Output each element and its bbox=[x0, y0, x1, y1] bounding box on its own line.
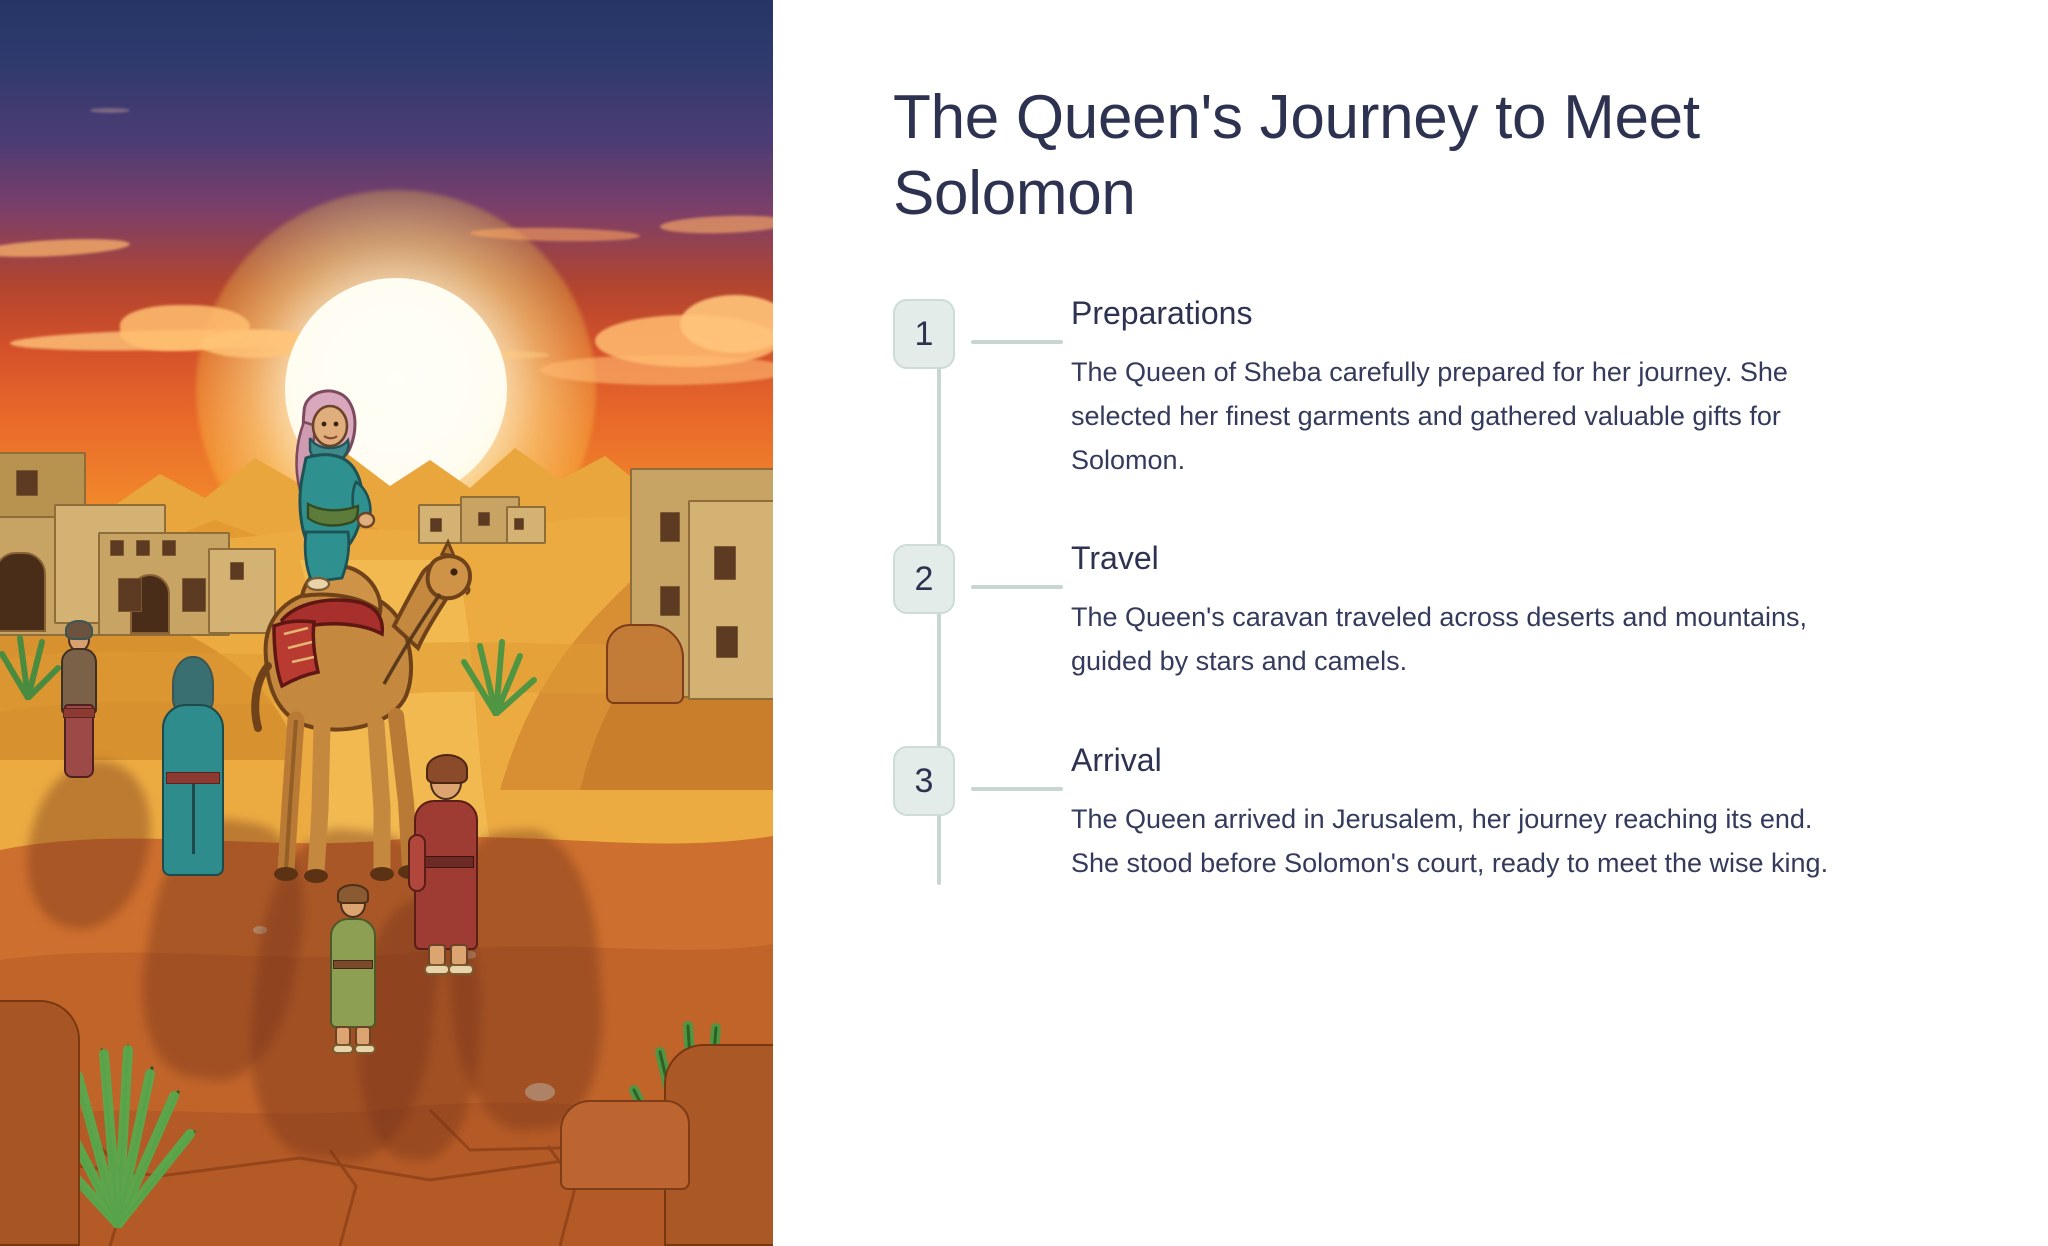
figure-hair bbox=[426, 754, 468, 784]
timeline-step-body: Preparations The Queen of Sheba carefull… bbox=[985, 293, 1865, 482]
building-window bbox=[660, 512, 680, 542]
timeline-step-description: The Queen of Sheba carefully prepared fo… bbox=[1071, 351, 1865, 482]
building-window bbox=[182, 578, 206, 612]
timeline: 1 Preparations The Queen of Sheba carefu… bbox=[893, 293, 1958, 885]
desert-rock bbox=[560, 1100, 690, 1190]
timeline-step: 2 Travel The Queen's caravan traveled ac… bbox=[893, 538, 1958, 683]
building-window bbox=[16, 470, 38, 496]
figure-attendant bbox=[148, 648, 234, 888]
timeline-connector bbox=[971, 340, 1063, 344]
agave-plant-small bbox=[0, 630, 64, 700]
agave-plant-small bbox=[450, 636, 540, 716]
desert-rock bbox=[0, 1000, 80, 1246]
illustration-panel bbox=[0, 0, 773, 1246]
desert-rock bbox=[606, 624, 684, 704]
figure-sash bbox=[63, 708, 95, 718]
figure-leg bbox=[428, 944, 446, 966]
figure-leg bbox=[355, 1026, 371, 1046]
building-window bbox=[514, 518, 524, 530]
figure-sash bbox=[166, 772, 220, 784]
figure-headscarf bbox=[65, 620, 93, 640]
building-door bbox=[0, 552, 46, 632]
adobe-building bbox=[688, 500, 773, 700]
figure-sandal bbox=[332, 1044, 354, 1054]
timeline-step-number-badge[interactable]: 3 bbox=[893, 746, 955, 816]
building-window bbox=[714, 546, 736, 580]
slide: The Queen's Journey to Meet Solomon 1 Pr… bbox=[0, 0, 2048, 1246]
figure-sash bbox=[333, 960, 373, 969]
timeline-step-badge-column: 3 bbox=[893, 740, 985, 816]
timeline-step-title: Preparations bbox=[1071, 293, 1865, 333]
timeline-step-description: The Queen arrived in Jerusalem, her jour… bbox=[1071, 798, 1865, 885]
building-window bbox=[110, 540, 124, 556]
building-window bbox=[230, 562, 244, 580]
timeline-step-body: Arrival The Queen arrived in Jerusalem, … bbox=[985, 740, 1865, 885]
timeline-step: 1 Preparations The Queen of Sheba carefu… bbox=[893, 293, 1958, 482]
timeline-step-body: Travel The Queen's caravan traveled acro… bbox=[985, 538, 1865, 683]
figure-sandal bbox=[354, 1044, 376, 1054]
figure-hair bbox=[337, 884, 369, 904]
adobe-building bbox=[506, 506, 546, 544]
figure-sandal bbox=[448, 964, 474, 975]
building-window bbox=[118, 578, 142, 612]
figure-camel-handler bbox=[404, 744, 492, 978]
timeline-connector bbox=[971, 585, 1063, 589]
timeline-step-number-badge[interactable]: 2 bbox=[893, 544, 955, 614]
robe-fold bbox=[192, 784, 195, 854]
figure-sash bbox=[418, 856, 474, 868]
building-window bbox=[716, 626, 738, 658]
timeline-step-title: Arrival bbox=[1071, 740, 1865, 780]
figure-robe bbox=[330, 918, 376, 1028]
building-window bbox=[162, 540, 176, 556]
timeline-step-title: Travel bbox=[1071, 538, 1865, 578]
timeline-step-description: The Queen's caravan traveled across dese… bbox=[1071, 596, 1865, 683]
building-window bbox=[478, 512, 490, 526]
figure-arm bbox=[408, 834, 426, 892]
figure-leg bbox=[450, 944, 468, 966]
page-title: The Queen's Journey to Meet Solomon bbox=[893, 80, 1923, 231]
figure-child bbox=[318, 886, 388, 1056]
queen-rider bbox=[278, 382, 388, 592]
building-window bbox=[136, 540, 150, 556]
timeline-step-number-badge[interactable]: 1 bbox=[893, 299, 955, 369]
timeline-connector bbox=[971, 787, 1063, 791]
building-window bbox=[660, 586, 680, 616]
figure-sandal bbox=[424, 964, 450, 975]
timeline-step-badge-column: 1 bbox=[893, 293, 985, 369]
content-panel: The Queen's Journey to Meet Solomon 1 Pr… bbox=[773, 0, 2048, 1246]
figure-leg bbox=[335, 1026, 351, 1046]
timeline-step: 3 Arrival The Queen arrived in Jerusalem… bbox=[893, 740, 1958, 885]
timeline-step-badge-column: 2 bbox=[893, 538, 985, 614]
